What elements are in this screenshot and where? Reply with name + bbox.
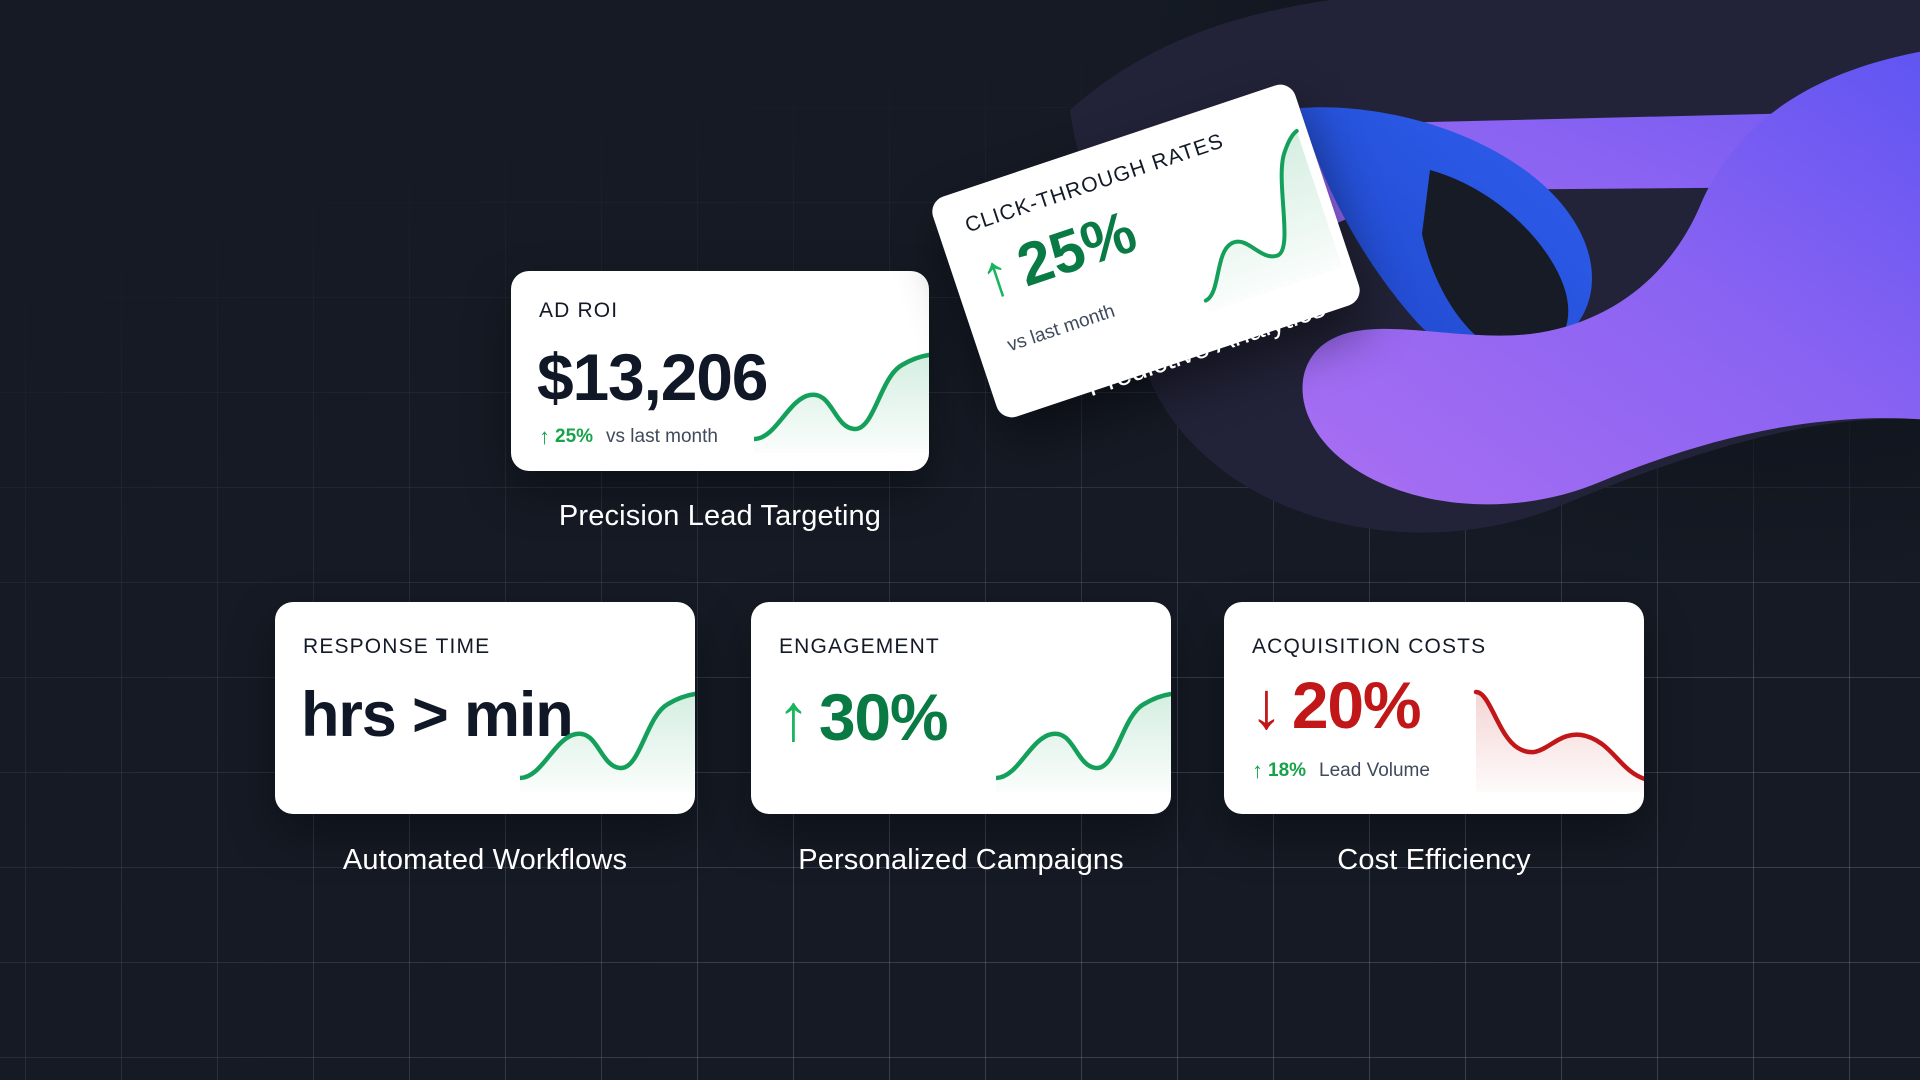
arrow-up-icon: ↑	[539, 426, 550, 448]
card-footer: ↑ 18% Lead Volume	[1252, 760, 1430, 782]
card-engagement[interactable]: ENGAGEMENT ↑30%	[751, 602, 1171, 814]
card-value: ↑30%	[777, 684, 947, 750]
card-label: RESPONSE TIME	[303, 635, 490, 659]
card-value: ↓20%	[1250, 672, 1420, 738]
card-footer-percent: 25%	[555, 426, 593, 448]
hero-illustration-canvas: AD ROI $13,206 ↑ 25% vs last month Preci…	[0, 0, 1920, 1080]
card-value-text: 20%	[1292, 668, 1421, 742]
card-label: AD ROI	[539, 299, 618, 323]
sparkline-chart	[754, 343, 929, 453]
card-footer-note: Lead Volume	[1319, 760, 1430, 782]
card-acquisition-costs[interactable]: ACQUISITION COSTS ↓20% ↑ 18% Lead Volume	[1224, 602, 1644, 814]
arrow-up-icon: ↑	[1252, 760, 1263, 782]
caption-cost-efficiency: Cost Efficiency	[1224, 844, 1644, 877]
arrow-down-icon: ↓	[1250, 672, 1282, 738]
card-ad-roi[interactable]: AD ROI $13,206 ↑ 25% vs last month	[511, 271, 929, 471]
card-response-time[interactable]: RESPONSE TIME hrs > min	[275, 602, 695, 814]
caption-personalized-campaigns: Personalized Campaigns	[751, 844, 1171, 877]
caption-automated-workflows: Automated Workflows	[275, 844, 695, 877]
card-footer-note: vs last month	[1005, 301, 1118, 357]
arrow-up-icon: ↑	[777, 684, 809, 750]
arrow-up-icon: ↑	[972, 243, 1019, 309]
card-footer: ↑ 25% vs last month	[539, 426, 718, 448]
sparkline-chart	[520, 682, 695, 792]
card-label: ENGAGEMENT	[779, 635, 940, 659]
card-footer-note: vs last month	[606, 426, 718, 448]
card-label: ACQUISITION COSTS	[1252, 635, 1486, 659]
sparkline-chart	[1472, 682, 1644, 792]
caption-precision-lead-targeting: Precision Lead Targeting	[511, 500, 929, 533]
card-value-text: 30%	[819, 680, 948, 754]
card-footer-percent: 18%	[1268, 760, 1306, 782]
card-value: $13,206	[537, 344, 767, 410]
sparkline-chart	[996, 682, 1171, 792]
